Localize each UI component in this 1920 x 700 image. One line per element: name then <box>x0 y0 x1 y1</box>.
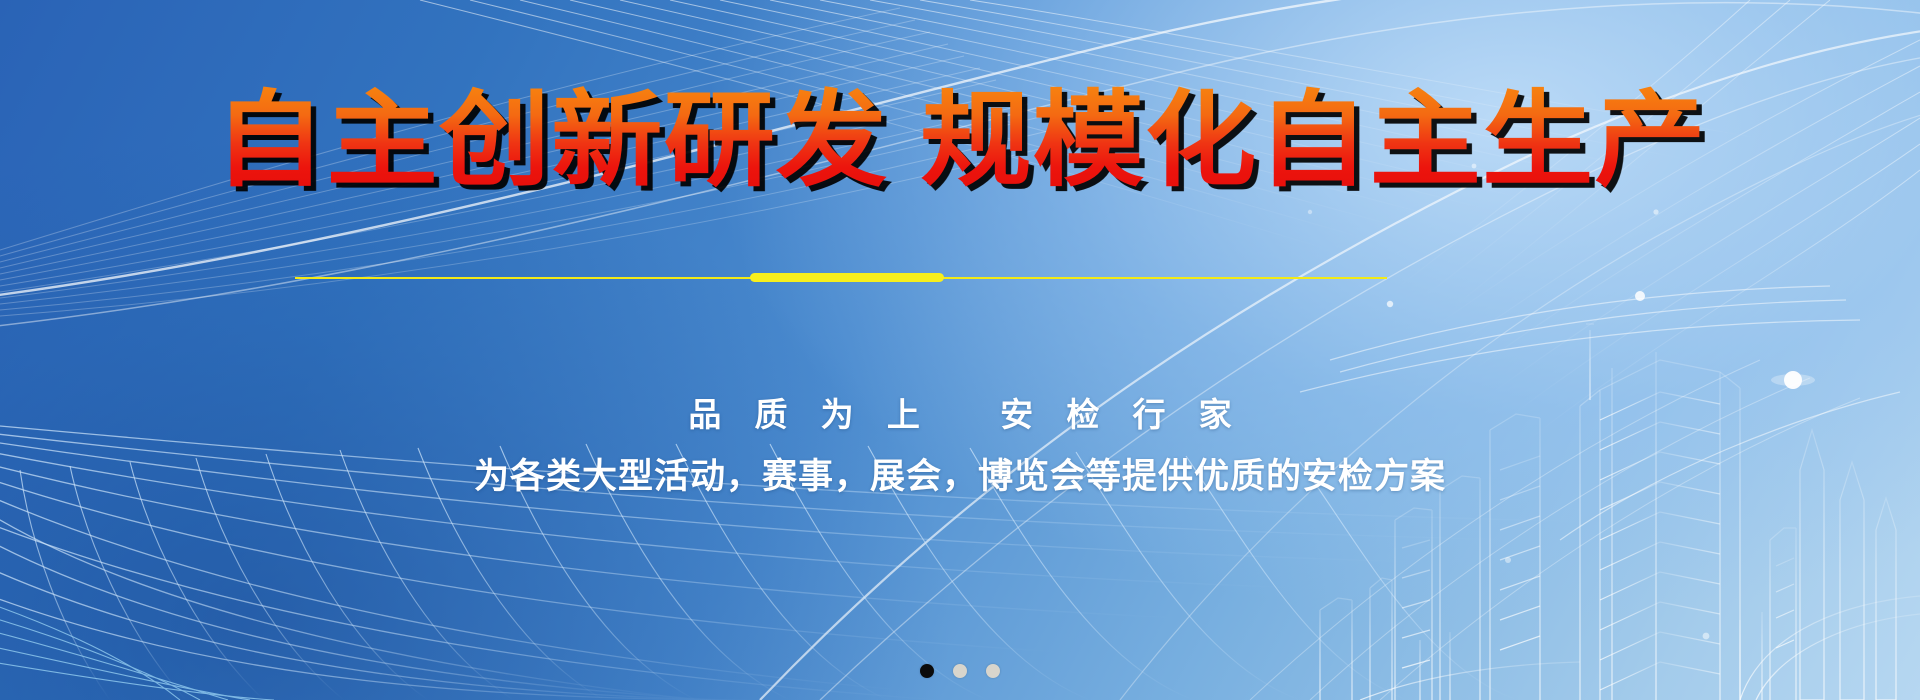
divider-thick-accent <box>750 273 944 282</box>
hero-banner: 自主创新研发 规模化自主生产 品 质 为 上 安 检 行 家 为各类大型活动，赛… <box>0 0 1920 700</box>
carousel-pagination[interactable] <box>0 664 1920 678</box>
headline-container: 自主创新研发 规模化自主生产 <box>0 86 1920 197</box>
carousel-dot-2[interactable] <box>953 664 967 678</box>
yellow-divider <box>0 270 1920 286</box>
banner-headline: 自主创新研发 规模化自主生产 <box>214 86 1707 197</box>
subtitle-part-quality: 品 质 为 上 <box>688 396 932 433</box>
subtitle-line-1: 品 质 为 上 安 检 行 家 <box>0 388 1920 436</box>
subtitle-line-2: 为各类大型活动，赛事，展会，博览会等提供优质的安检方案 <box>0 448 1920 499</box>
carousel-dot-3[interactable] <box>986 664 1000 678</box>
carousel-dot-1[interactable] <box>920 664 934 678</box>
subtitle-part-expert: 安 检 行 家 <box>1000 396 1244 433</box>
